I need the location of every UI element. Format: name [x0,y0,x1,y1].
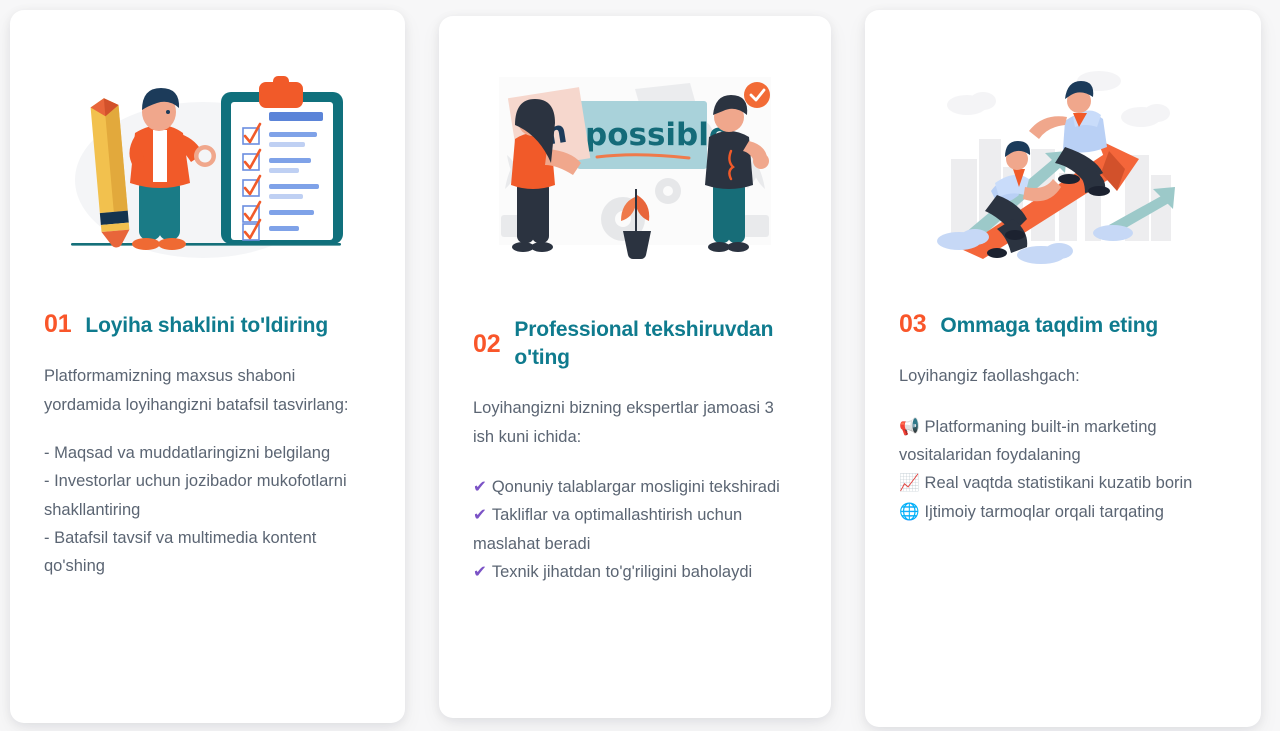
card-2-body: 02 Professional tekshiruvdan o'ting Loyi… [439,316,831,587]
step-number: 01 [44,310,71,339]
steps-card-row: 01 Loyiha shaklini to'ldiring Platformam… [0,0,1280,731]
list-item-label: Platformaning built-in marketing vosital… [899,418,1157,464]
two-people-climbing-growth-arrow-illustration [913,63,1213,268]
list-item: 🌐Ijtimoiy tarmoqlar orqali tarqating [899,498,1227,526]
card-1-body: 01 Loyiha shaklini to'ldiring Platformam… [10,310,405,581]
list-item: ✔Takliflar va optimallashtirish uchun ma… [473,501,797,558]
step-number: 02 [473,330,500,359]
card-2-paragraph-1: Loyihangizni bizning ekspertlar jamoasi … [473,394,797,451]
page-title: Ommaga taqdim eting [940,312,1158,340]
page-title: Loyiha shaklini to'ldiring [85,312,328,340]
list-item-label: Ijtimoiy tarmoqlar orqali tarqating [925,503,1164,521]
megaphone-icon: 📢 [899,417,920,436]
check-badge-icon [744,82,770,108]
card-2-heading: 02 Professional tekshiruvdan o'ting [473,316,797,372]
card-3-bullet-list: 📢Platformaning built-in marketing vosita… [899,413,1227,527]
person-with-pencil-and-checklist-clipboard-illustration [53,60,363,270]
page-title: Professional tekshiruvdan o'ting [514,316,797,372]
list-item: 📢Platformaning built-in marketing vosita… [899,413,1227,470]
step-card-3: 03 Ommaga taqdim eting Loyihangiz faolla… [865,10,1261,727]
step-card-1: 01 Loyiha shaklini to'ldiring Platformam… [10,10,405,723]
list-item-label: Qonuniy talablargar mosligini tekshiradi [492,478,780,496]
check-icon: ✔ [473,562,487,581]
list-item: ✔Qonuniy talablargar mosligini tekshirad… [473,473,797,501]
illustration-checklist-wrap [10,10,405,310]
list-item-label: Takliflar va optimallashtirish uchun mas… [473,506,742,552]
illustration-growth-wrap [865,10,1261,310]
card-3-heading: 03 Ommaga taqdim eting [899,310,1227,340]
globe-icon: 🌐 [899,502,920,521]
card-1-heading: 01 Loyiha shaklini to'ldiring [44,310,371,340]
step-number: 03 [899,310,926,339]
card-1-paragraph-1: Platformamizning maxsus shaboni yordamid… [44,362,371,419]
check-icon: ✔ [473,505,487,524]
card-3-paragraph-1: Loyihangiz faollashgach: [899,362,1227,390]
list-item: 📈Real vaqtda statistikani kuzatib borin [899,469,1227,497]
illustration-impossible-wrap: possible im [439,16,831,316]
check-icon: ✔ [473,477,487,496]
step-card-2: possible im [439,16,831,718]
list-item-label: Real vaqtda statistikani kuzatib borin [925,474,1193,492]
card-1-paragraph-2: - Maqsad va muddatlaringizni belgilang -… [44,439,371,581]
impossible-to-possible-sign-illustration: possible im [485,69,785,274]
list-item-label: Texnik jihatdan to'g'riligini baholaydi [492,563,752,581]
card-3-body: 03 Ommaga taqdim eting Loyihangiz faolla… [865,310,1261,526]
list-item: ✔Texnik jihatdan to'g'riligini baholaydi [473,558,797,586]
card-2-bullet-list: ✔Qonuniy talablargar mosligini tekshirad… [473,473,797,587]
chart-increasing-icon: 📈 [899,473,920,492]
